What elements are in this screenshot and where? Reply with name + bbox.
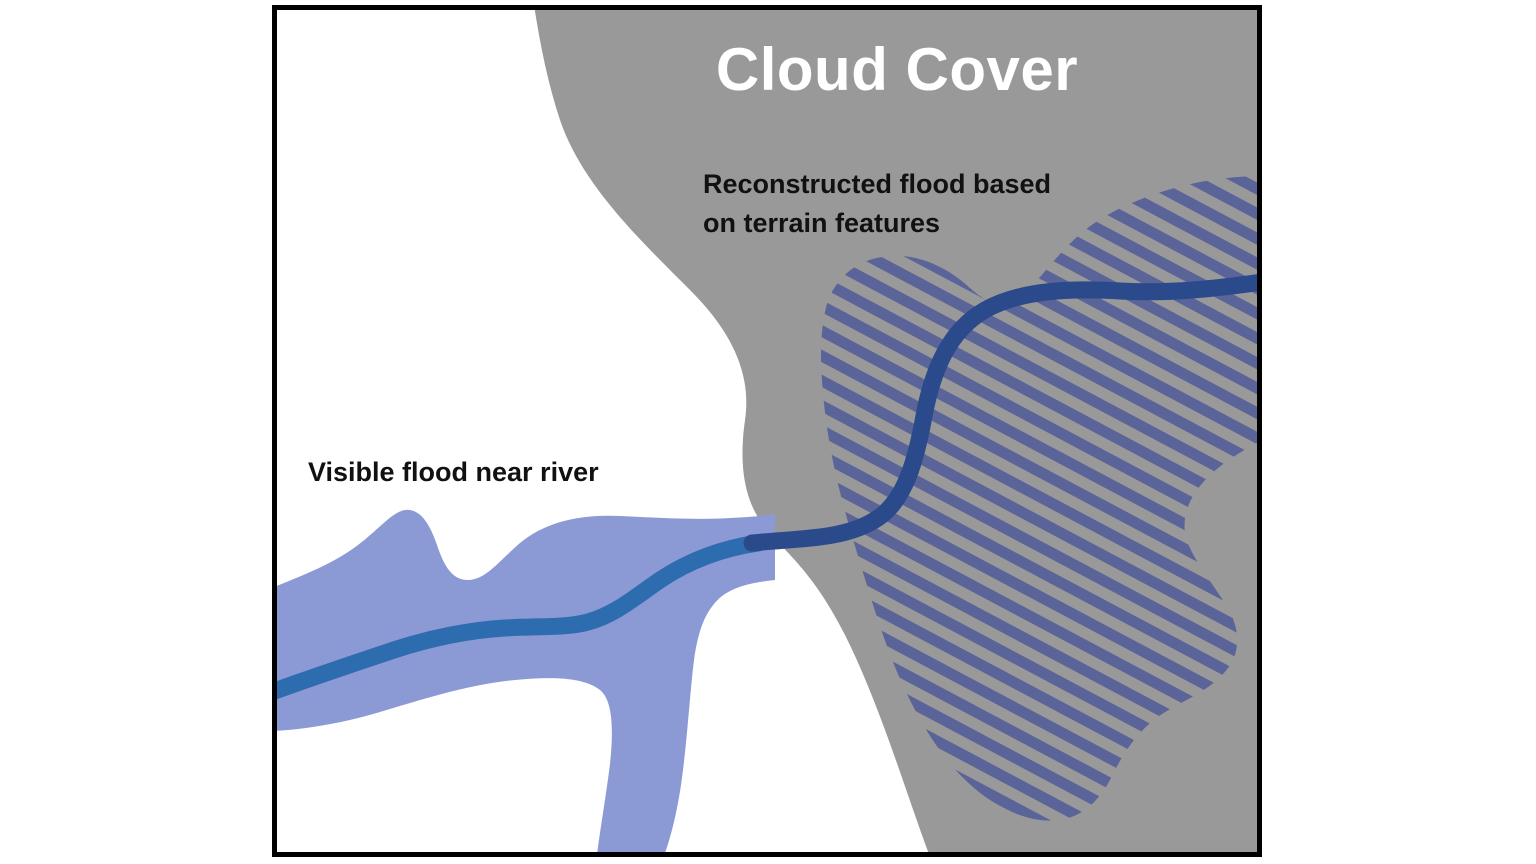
reconstructed-flood-label-line1: Reconstructed flood based xyxy=(703,169,1051,199)
diagram-canvas: Cloud Cover Reconstructed flood based on… xyxy=(0,0,1536,864)
visible-flood-label: Visible flood near river xyxy=(308,457,599,487)
figure-title: Cloud Cover xyxy=(716,36,1078,103)
reconstructed-flood-label-line2: on terrain features xyxy=(703,208,940,238)
flood-map-figure: Cloud Cover Reconstructed flood based on… xyxy=(0,0,1536,864)
visible-flood-label-line1: Visible flood near river xyxy=(308,457,599,487)
